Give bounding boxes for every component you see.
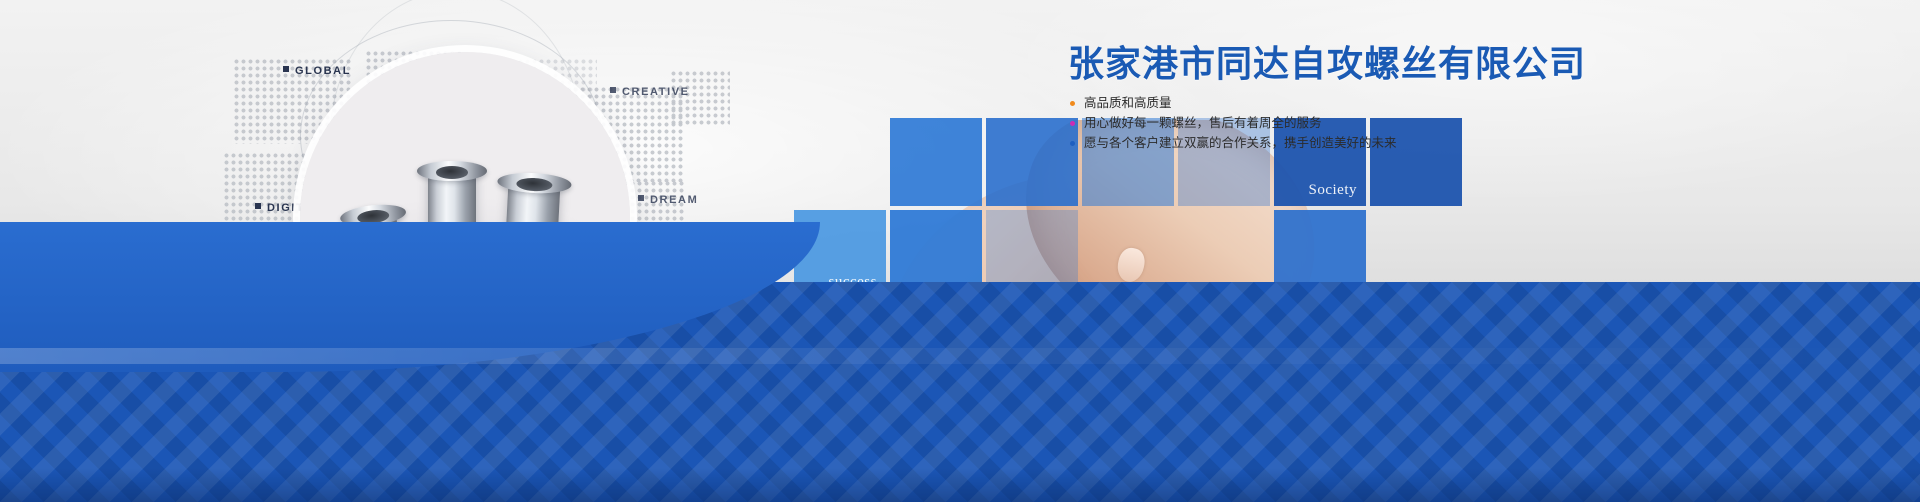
map-label-text: DREAM	[650, 194, 698, 206]
map-dot-cluster	[670, 70, 730, 126]
map-label-text: GLOBAL	[295, 65, 351, 77]
feature-bullet-text: 愿与各个客户建立双赢的合作关系，携手创造美好的未来	[1084, 135, 1397, 152]
headline-text-block: 张家港市同达自攻螺丝有限公司 高品质和高质量用心做好每一颗螺丝，售后有着周全的服…	[1068, 42, 1708, 155]
feature-bullet-item: 用心做好每一颗螺丝，售后有着周全的服务	[1070, 115, 1708, 132]
bullet-dot-icon	[1070, 101, 1075, 106]
mosaic-tile	[890, 118, 982, 206]
mosaic-word-society: Society	[1309, 182, 1358, 199]
feature-bullet-text: 用心做好每一颗螺丝，售后有着周全的服务	[1084, 115, 1322, 132]
map-label-dream: DREAM	[638, 194, 698, 206]
feature-bullet-item: 愿与各个客户建立双赢的合作关系，携手创造美好的未来	[1070, 135, 1708, 152]
feature-bullet-list: 高品质和高质量用心做好每一颗螺丝，售后有着周全的服务愿与各个客户建立双赢的合作关…	[1070, 95, 1708, 152]
blue-geometric-band	[0, 282, 1920, 502]
square-bullet-icon	[610, 87, 616, 93]
map-label-text: CREATIVE	[622, 86, 690, 98]
square-bullet-icon	[638, 195, 644, 201]
map-label-creative: CREATIVE	[610, 86, 690, 98]
bullet-dot-icon	[1070, 121, 1075, 126]
square-bullet-icon	[255, 203, 261, 209]
feature-bullet-text: 高品质和高质量	[1084, 95, 1172, 112]
bullet-dot-icon	[1070, 141, 1075, 146]
map-label-global: GLOBAL	[283, 65, 351, 77]
band-bottom-shadow	[0, 468, 1920, 502]
mosaic-tile	[986, 118, 1078, 206]
band-highlight-stripe	[0, 348, 1920, 364]
feature-bullet-item: 高品质和高质量	[1070, 95, 1708, 112]
company-title: 张家港市同达自攻螺丝有限公司	[1068, 42, 1708, 86]
square-bullet-icon	[283, 66, 289, 72]
company-hero-banner: GLOBAL DIGITAL CREATIVE DREAM	[0, 0, 1920, 502]
